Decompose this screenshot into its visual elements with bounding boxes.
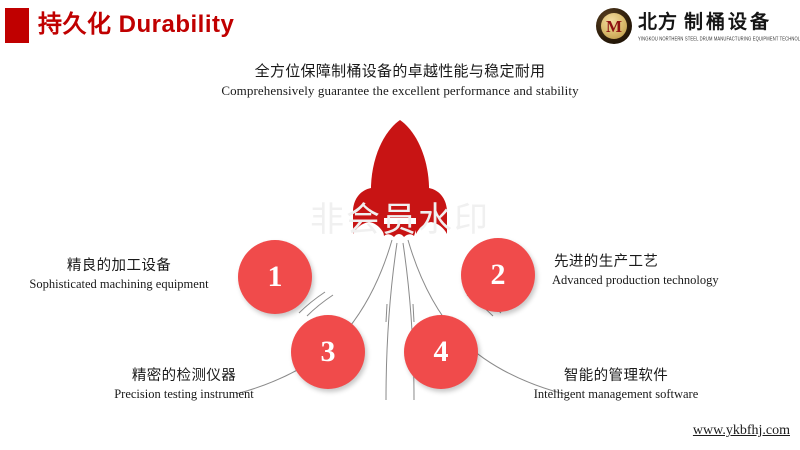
node-number-1: 1 (268, 262, 283, 292)
node-caption-4-cn: 智能的管理软件 (521, 366, 711, 386)
node-circle-3[interactable]: 3 (291, 315, 365, 389)
node-caption-4: 智能的管理软件 Intelligent management software (521, 366, 711, 403)
node-number-3: 3 (321, 337, 336, 367)
footer-website-link[interactable]: www.ykbfhj.com (693, 422, 790, 440)
node-caption-1: 精良的加工设备 Sophisticated machining equipmen… (14, 256, 224, 293)
node-circle-4[interactable]: 4 (404, 315, 478, 389)
node-caption-2: 先进的生产工艺 Advanced production technology (552, 252, 719, 289)
node-caption-1-cn: 精良的加工设备 (14, 256, 224, 276)
rocket-icon (353, 120, 447, 237)
node-caption-2-cn: 先进的生产工艺 (552, 252, 719, 272)
node-caption-3: 精密的检测仪器 Precision testing instrument (98, 366, 270, 403)
node-number-4: 4 (434, 337, 449, 367)
node-caption-1-en: Sophisticated machining equipment (14, 276, 224, 293)
node-circle-2[interactable]: 2 (461, 238, 535, 312)
node-caption-2-en: Advanced production technology (552, 272, 719, 289)
node-caption-3-en: Precision testing instrument (98, 386, 270, 403)
slide-canvas: 持久化 Durability M 北方制桶设备 YINGKOU NORTHERN… (0, 0, 800, 450)
node-number-2: 2 (491, 260, 506, 290)
node-caption-3-cn: 精密的检测仪器 (98, 366, 270, 386)
node-circle-1[interactable]: 1 (238, 240, 312, 314)
node-caption-4-en: Intelligent management software (521, 386, 711, 403)
